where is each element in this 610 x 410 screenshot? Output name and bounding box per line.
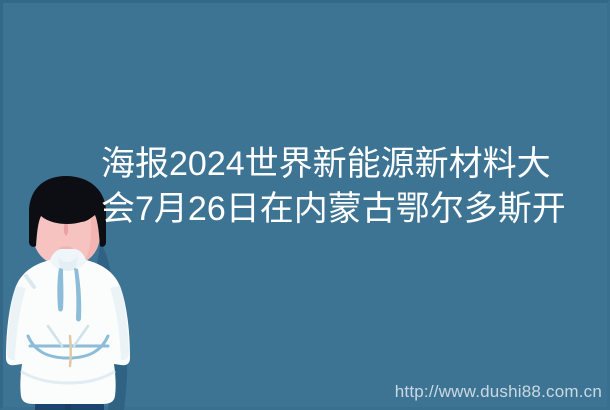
headline-line-2: 会7月26日在内蒙古鄂尔多斯开 <box>101 187 606 232</box>
hoodie <box>6 249 130 404</box>
watermark-url: http://www.dushi88.com.cn <box>395 382 602 402</box>
headline-line-1: 海报2024世界新能源新材料大 <box>101 142 606 187</box>
poster-image: 海报2024世界新能源新材料大 会7月26日在内蒙古鄂尔多斯开 http://w… <box>0 0 610 410</box>
poster-headline: 海报2024世界新能源新材料大 会7月26日在内蒙古鄂尔多斯开 <box>101 142 606 232</box>
drawstring-left <box>57 268 63 312</box>
